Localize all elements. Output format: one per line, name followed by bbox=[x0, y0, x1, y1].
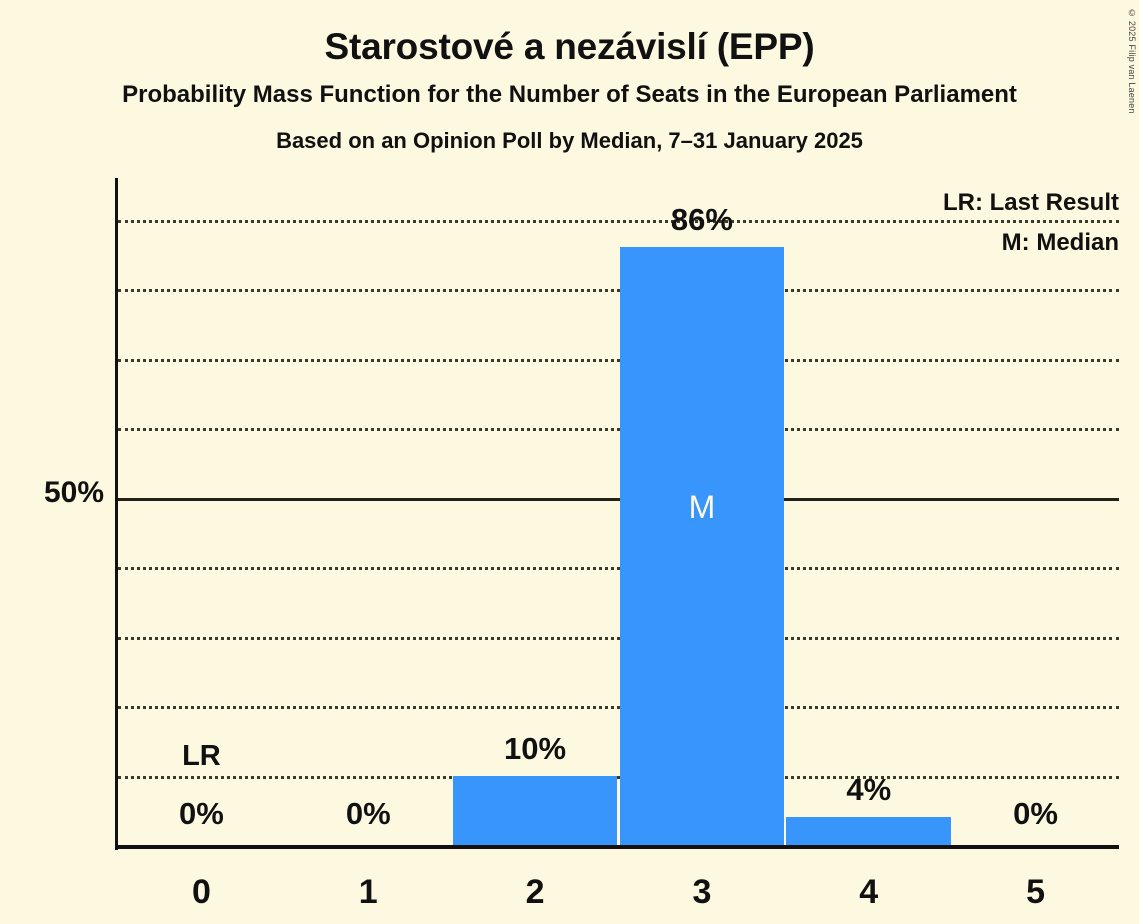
x-tick-label-3: 3 bbox=[619, 873, 786, 911]
value-label-seats-3: 86% bbox=[619, 203, 786, 237]
gridline-30 bbox=[118, 637, 1119, 640]
copyright-notice: © 2025 Filip van Laenen bbox=[1121, 8, 1137, 138]
bar-seats-3 bbox=[620, 247, 785, 845]
median-marker: M bbox=[620, 491, 785, 523]
gridline-major-50 bbox=[118, 498, 1119, 501]
x-tick-label-2: 2 bbox=[452, 873, 619, 911]
x-tick-label-4: 4 bbox=[785, 873, 952, 911]
chart-subtitle: Probability Mass Function for the Number… bbox=[0, 79, 1139, 111]
gridline-70 bbox=[118, 359, 1119, 362]
bar-seats-4 bbox=[786, 817, 951, 845]
gridline-40 bbox=[118, 567, 1119, 570]
chart-source-line: Based on an Opinion Poll by Median, 7–31… bbox=[0, 126, 1139, 156]
x-tick-label-0: 0 bbox=[118, 873, 285, 911]
gridline-10 bbox=[118, 776, 1119, 779]
value-label-seats-2: 10% bbox=[452, 732, 619, 766]
chart-header: Starostové a nezávislí (EPP) Probability… bbox=[0, 0, 1139, 156]
last-result-marker: LR bbox=[118, 740, 285, 772]
x-tick-label-5: 5 bbox=[952, 873, 1119, 911]
page-title: Starostové a nezávislí (EPP) bbox=[0, 25, 1139, 69]
gridline-60 bbox=[118, 428, 1119, 431]
value-label-seats-1: 0% bbox=[285, 797, 452, 831]
value-label-seats-4: 4% bbox=[785, 773, 952, 807]
x-tick-label-1: 1 bbox=[285, 873, 452, 911]
y-tick-label-50: 50% bbox=[0, 477, 104, 509]
bar-seats-2 bbox=[453, 776, 618, 846]
value-label-seats-5: 0% bbox=[952, 797, 1119, 831]
value-label-seats-0: 0% bbox=[118, 797, 285, 831]
gridline-20 bbox=[118, 706, 1119, 709]
gridline-80 bbox=[118, 289, 1119, 292]
